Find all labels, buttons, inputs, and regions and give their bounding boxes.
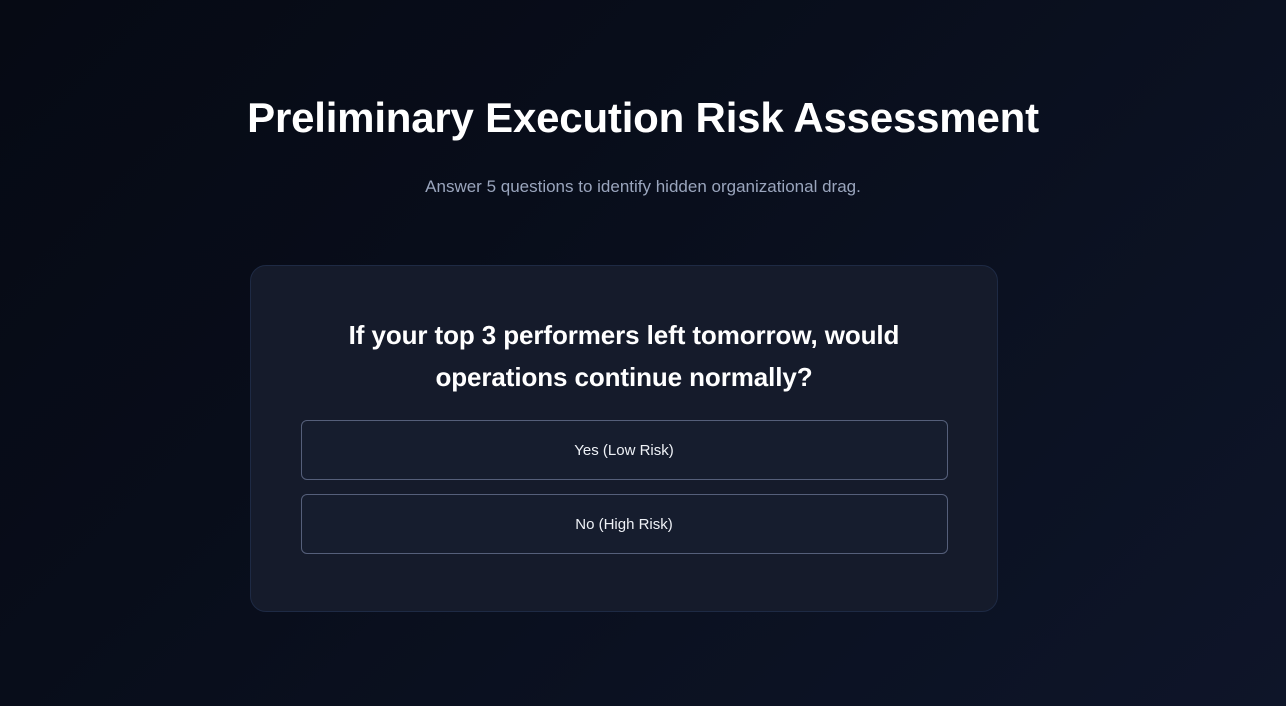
- assessment-page: Preliminary Execution Risk Assessment An…: [0, 0, 1286, 706]
- page-subtitle: Answer 5 questions to identify hidden or…: [0, 175, 1286, 199]
- answer-options-group: Yes (Low Risk) No (High Risk): [301, 420, 948, 554]
- page-title: Preliminary Execution Risk Assessment: [0, 94, 1286, 141]
- question-text: If your top 3 performers left tomorrow, …: [334, 314, 914, 398]
- page-header: Preliminary Execution Risk Assessment An…: [0, 0, 1286, 199]
- answer-option-no-high-risk[interactable]: No (High Risk): [301, 494, 948, 554]
- answer-option-yes-low-risk[interactable]: Yes (Low Risk): [301, 420, 948, 480]
- quiz-card: If your top 3 performers left tomorrow, …: [250, 265, 998, 612]
